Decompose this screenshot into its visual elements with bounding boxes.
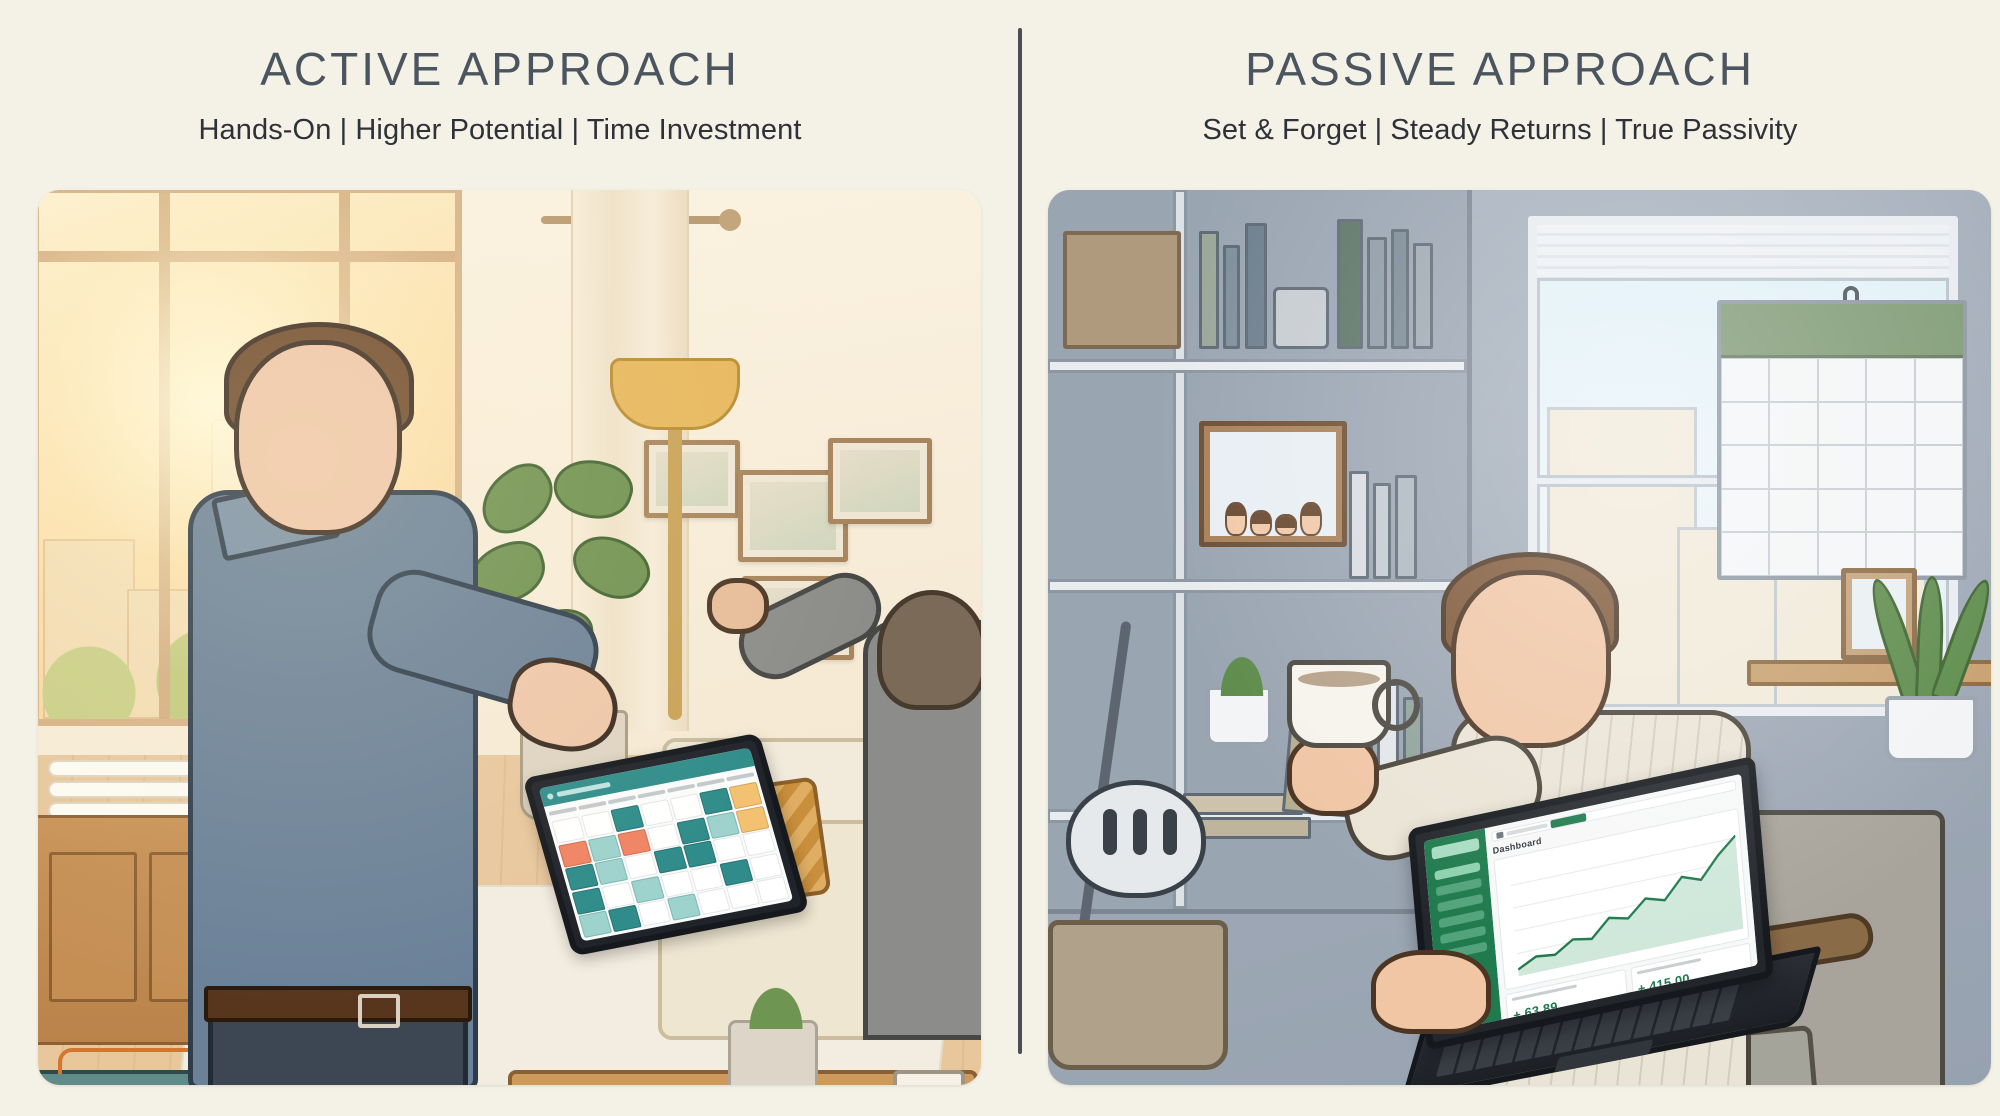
calendar-day-cell [1769,532,1817,576]
photo-person [1300,502,1322,536]
dashboard-main: Dashboard + 63.89+ 415.00 [1485,774,1758,1020]
calendar-day-cell [1721,532,1769,576]
calendar-day-cell[interactable] [689,864,723,892]
calendar-day-cell[interactable] [676,817,710,845]
book [1395,475,1417,579]
page-title-passive: PASSIVE APPROACH [1000,46,2000,92]
calendar-day-cell [1818,402,1866,446]
page-title-active: ACTIVE APPROACH [0,46,1000,92]
building [127,589,197,719]
vertical-divider [1018,28,1022,1054]
calendar-day-cell [1769,358,1817,402]
calendar-day-cell [1818,489,1866,533]
building [43,539,135,719]
jar [1273,287,1329,349]
wall-frame [828,438,932,524]
calendar-day-cell[interactable] [653,846,687,874]
sidebar-item-dashboard[interactable] [1434,862,1480,881]
storage-box [1063,231,1181,349]
family-photo-frame [1199,421,1347,547]
window-mullion [39,251,455,262]
book [1367,237,1387,349]
column-heading-passive: PASSIVE APPROACH Set & Forget | Steady R… [1000,0,2000,147]
headings-row: ACTIVE APPROACH Hands-On | Higher Potent… [0,0,2000,160]
calendar-day-cell[interactable] [565,863,599,891]
shelf-board [1048,579,1467,593]
coffee-mug [893,1070,965,1085]
calendar-day-cell [1866,358,1914,402]
calendar-day-cell[interactable] [669,793,703,821]
calendar-day-cell [1915,489,1963,533]
calendar-day-cell[interactable] [581,810,615,838]
column-heading-active: ACTIVE APPROACH Hands-On | Higher Potent… [0,0,1000,147]
illustration-panel-passive: Dashboard + 63.89+ 415.00 [1048,190,1991,1085]
illustration-panel-active [38,190,981,1085]
calendar-day-cell[interactable] [608,905,642,933]
wall-calendar [1717,300,1967,580]
calendar-day-cell[interactable] [726,882,760,910]
calendar-day-cell [1866,489,1914,533]
book [1373,483,1391,579]
succulent-planter [728,1020,818,1085]
subtitle-passive: Set & Forget | Steady Returns | True Pas… [1000,114,2000,147]
subtitle-active: Hands-On | Higher Potential | Time Inves… [0,114,1000,147]
person-hand [707,578,769,634]
calendar-day-cell[interactable] [660,870,694,898]
window-mullion [159,193,170,719]
coffee-cup [1287,660,1391,748]
laptop-device[interactable]: Dashboard + 63.89+ 415.00 [1406,773,1831,1085]
frame-picture [840,450,920,512]
calendar-day-cell [1866,445,1914,489]
book [1245,223,1267,349]
calendar-day-cell[interactable] [578,910,612,938]
calendar-day-cell [1915,358,1963,402]
sidebar-item-reports[interactable] [1440,926,1486,945]
man-head [234,340,402,535]
app-logo-icon [546,793,554,800]
scene-cool-reading-nook: Dashboard + 63.89+ 415.00 [1048,190,1991,1085]
calendar-day-cell[interactable] [712,835,746,863]
calendar-day-cell [1818,445,1866,489]
calendar-day-cell[interactable] [594,858,628,886]
sidebar-item-transfers[interactable] [1439,910,1485,929]
book [1337,219,1363,349]
person-hair [877,590,981,710]
plant-pot [1885,696,1977,762]
shelf-plant-pot [1207,687,1271,745]
sidebar-item-portfolio[interactable] [1437,894,1483,913]
breadcrumb [1506,823,1548,836]
photo-person [1225,502,1247,536]
calendar-day-cell[interactable] [558,840,592,868]
calendar-header [1721,304,1963,358]
calendar-day-cell[interactable] [728,782,762,810]
calendar-day-cell[interactable] [748,852,782,880]
calendar-day-cell[interactable] [640,799,674,827]
calendar-day-cell[interactable] [587,834,621,862]
calendar-day-cell [1721,489,1769,533]
menu-icon[interactable] [1496,832,1503,839]
frame-picture [750,482,836,550]
duffel-bag [1048,920,1228,1070]
coffee-surface [1298,671,1380,687]
calendar-day-cell[interactable] [551,816,585,844]
calendar-day-cell[interactable] [696,887,730,915]
calendar-day-cell[interactable] [601,881,635,909]
book [1199,231,1219,349]
calendar-day-cell [1721,445,1769,489]
calendar-day-cell [1721,402,1769,446]
book [1349,471,1369,579]
stacked-towels [48,760,208,822]
calendar-day-cell[interactable] [667,893,701,921]
bike-helmet [1066,780,1206,898]
book [1391,229,1409,349]
calendar-day-cell [1721,358,1769,402]
calendar-day-cell [1915,445,1963,489]
calendar-day-cell[interactable] [572,887,606,915]
man-head [1451,570,1611,748]
photo-person [1275,514,1297,536]
scene-warm-living-room [38,190,981,1085]
floor-plant [1855,562,1991,762]
sidebar-item-accounts[interactable] [1436,878,1482,897]
calendar-day-cell[interactable] [705,811,739,839]
shelf-board [1048,359,1467,373]
calendar-day-cell [1769,445,1817,489]
calendar-day-cell[interactable] [630,875,664,903]
book [1413,243,1433,349]
calendar-day-cell[interactable] [646,823,680,851]
tablet-screen[interactable] [539,748,794,942]
book [1223,245,1240,349]
calendar-day-cell[interactable] [742,829,776,857]
window-blind [1537,225,1949,281]
man-typing-hand [1371,950,1491,1034]
family-photo [1210,432,1336,536]
calendar-day-cell [1769,489,1817,533]
calendar-day-cell [1915,402,1963,446]
calendar-day-cell[interactable] [637,899,671,927]
calendar-grid [1721,358,1963,576]
calendar-day-cell[interactable] [699,788,733,816]
calendar-day-cell[interactable] [610,805,644,833]
brand-logo-icon [1431,838,1479,860]
calendar-day-cell[interactable] [683,840,717,868]
calendar-day-cell [1866,402,1914,446]
calendar-day-cell[interactable] [755,876,789,904]
calendar-day-cell [1769,402,1817,446]
photo-person [1250,510,1272,536]
calendar-day-cell[interactable] [617,828,651,856]
man-belt [204,986,472,1022]
calendar-day-cell[interactable] [624,852,658,880]
calendar-day-cell [1818,358,1866,402]
calendar-day-cell[interactable] [719,858,753,886]
calendar-day-cell[interactable] [735,805,769,833]
